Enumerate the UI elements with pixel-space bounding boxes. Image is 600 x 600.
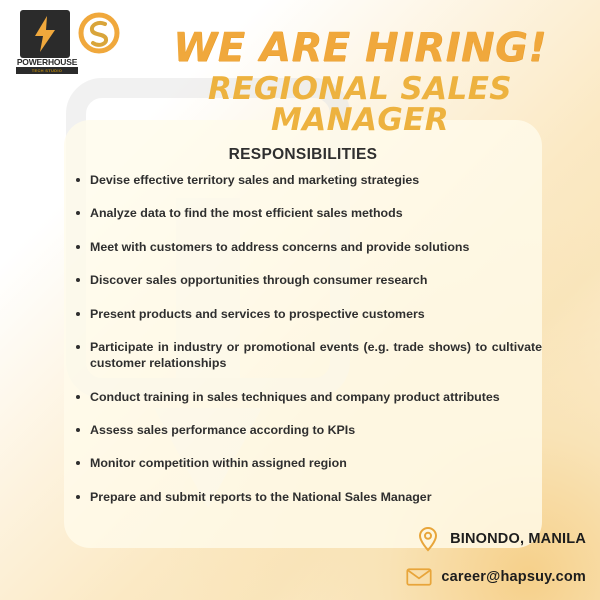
location-contact: BINONDO, MANILA: [415, 526, 586, 552]
email-text[interactable]: career@hapsuy.com: [441, 569, 586, 585]
s-monogram-icon: [78, 12, 120, 54]
list-item: Discover sales opportunities through con…: [76, 272, 542, 288]
envelope-icon: [406, 564, 432, 590]
bullet-dot-icon: [76, 428, 80, 432]
list-item-text: Analyze data to find the most efficient …: [90, 205, 542, 221]
list-item-text: Participate in industry or promotional e…: [90, 339, 542, 372]
bullet-dot-icon: [76, 278, 80, 282]
list-item-text: Devise effective territory sales and mar…: [90, 172, 542, 188]
brand-logo: POWERHOUSE TECH STUDIO: [10, 8, 142, 86]
list-item-text: Monitor competition within assigned regi…: [90, 455, 542, 471]
responsibilities-list: Devise effective territory sales and mar…: [76, 172, 542, 522]
list-item-text: Prepare and submit reports to the Nation…: [90, 489, 542, 505]
bullet-dot-icon: [76, 345, 80, 349]
list-item: Monitor competition within assigned regi…: [76, 455, 542, 471]
bullet-dot-icon: [76, 312, 80, 316]
list-item: Conduct training in sales techniques and…: [76, 389, 542, 405]
list-item-text: Present products and services to prospec…: [90, 306, 542, 322]
list-item-text: Discover sales opportunities through con…: [90, 272, 542, 288]
bolt-icon: [32, 14, 58, 54]
list-item-text: Meet with customers to address concerns …: [90, 239, 542, 255]
list-item: Analyze data to find the most efficient …: [76, 205, 542, 221]
list-item: Present products and services to prospec…: [76, 306, 542, 322]
bullet-dot-icon: [76, 245, 80, 249]
headline-line-1: WE ARE HIRING!: [140, 28, 580, 68]
list-item: Assess sales performance according to KP…: [76, 422, 542, 438]
location-text: BINONDO, MANILA: [450, 531, 586, 547]
map-pin-icon: [415, 526, 441, 552]
bullet-dot-icon: [76, 211, 80, 215]
headline-block: WE ARE HIRING! REGIONAL SALES MANAGER: [140, 28, 580, 136]
bullet-dot-icon: [76, 395, 80, 399]
list-item-text: Conduct training in sales techniques and…: [90, 389, 542, 405]
list-item-text: Assess sales performance according to KP…: [90, 422, 542, 438]
job-posting-poster: POWERHOUSE TECH STUDIO WE ARE HIRING! RE…: [0, 0, 600, 600]
list-item: Prepare and submit reports to the Nation…: [76, 489, 542, 505]
headline-line-2: REGIONAL SALES MANAGER: [140, 74, 580, 136]
list-item: Participate in industry or promotional e…: [76, 339, 542, 372]
powerhouse-logo-icon: POWERHOUSE TECH STUDIO: [16, 10, 80, 82]
brand-logo-sub: TECH STUDIO: [16, 67, 78, 74]
brand-logo-word: POWERHOUSE: [16, 57, 78, 67]
bullet-dot-icon: [76, 495, 80, 499]
responsibilities-title: RESPONSIBILITIES: [64, 146, 542, 164]
bullet-dot-icon: [76, 461, 80, 465]
list-item: Devise effective territory sales and mar…: [76, 172, 542, 188]
bullet-dot-icon: [76, 178, 80, 182]
list-item: Meet with customers to address concerns …: [76, 239, 542, 255]
email-contact[interactable]: career@hapsuy.com: [406, 564, 586, 590]
